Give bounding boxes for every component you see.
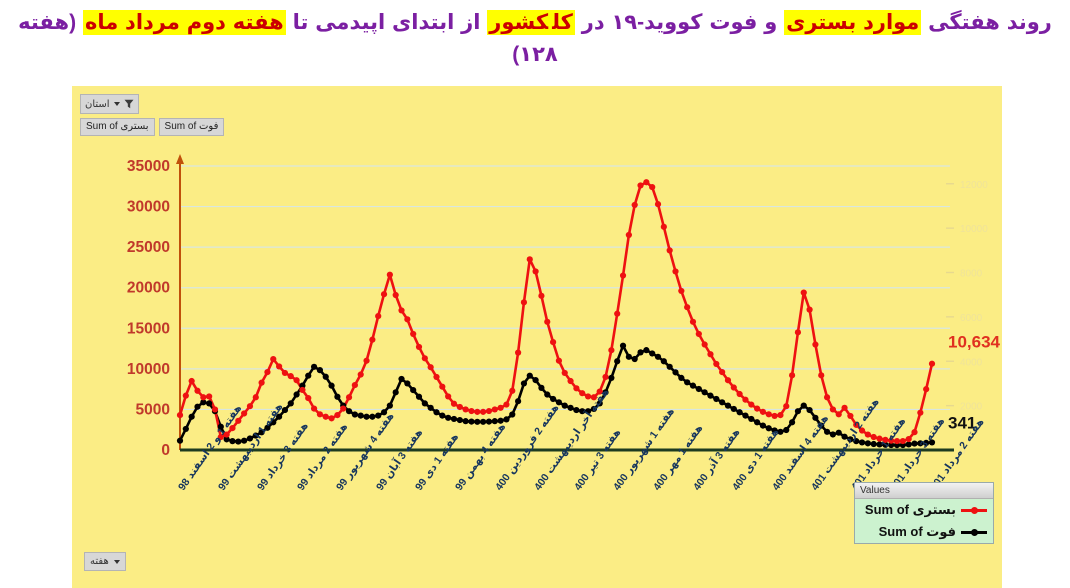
data-point-deaths — [824, 429, 830, 435]
data-point-deaths — [754, 419, 760, 425]
data-point-hospitalized — [498, 405, 504, 411]
data-point-deaths — [305, 373, 311, 379]
data-point-hospitalized — [923, 386, 929, 392]
data-point-hospitalized — [748, 401, 754, 407]
data-point-deaths — [748, 416, 754, 422]
data-point-hospitalized — [264, 369, 270, 375]
data-point-hospitalized — [614, 311, 620, 317]
data-point-deaths — [707, 393, 713, 399]
title-segment-1: روند هفتگی — [921, 11, 1052, 34]
data-point-deaths — [562, 403, 568, 409]
data-point-hospitalized — [474, 409, 480, 415]
data-point-hospitalized — [527, 256, 533, 262]
data-point-hospitalized — [567, 378, 573, 384]
data-point-deaths — [865, 440, 871, 446]
data-point-deaths — [567, 405, 573, 411]
data-point-hospitalized — [276, 363, 282, 369]
data-point-hospitalized — [544, 319, 550, 325]
data-point-hospitalized — [649, 184, 655, 190]
data-point-deaths — [206, 400, 212, 406]
data-point-hospitalized — [678, 288, 684, 294]
data-point-deaths — [696, 386, 702, 392]
data-point-deaths — [655, 354, 661, 360]
legend-label-hospitalized: Sum of بستری — [865, 502, 956, 518]
data-point-deaths — [235, 438, 241, 444]
y-axis-left-tick: 10000 — [127, 361, 170, 378]
data-point-deaths — [731, 406, 737, 412]
data-point-hospitalized — [486, 408, 492, 414]
data-point-deaths — [573, 407, 579, 413]
chart-legend: Values Sum of بستری Sum of فوت — [854, 482, 994, 544]
data-point-hospitalized — [393, 292, 399, 298]
data-point-hospitalized — [841, 405, 847, 411]
data-point-deaths — [527, 373, 533, 379]
data-point-hospitalized — [200, 394, 206, 400]
title-segment-6: از ابتدای اپیدمی تا — [286, 11, 488, 34]
data-point-deaths — [346, 408, 352, 414]
data-point-hospitalized — [632, 202, 638, 208]
data-point-hospitalized — [404, 316, 410, 322]
data-point-deaths — [177, 438, 183, 444]
data-point-hospitalized — [777, 412, 783, 418]
data-point-hospitalized — [515, 350, 521, 356]
data-point-hospitalized — [463, 406, 469, 412]
data-point-deaths — [632, 356, 638, 362]
data-point-hospitalized — [194, 388, 200, 394]
data-point-hospitalized — [690, 319, 696, 325]
data-point-hospitalized — [865, 431, 871, 437]
data-point-hospitalized — [282, 370, 288, 376]
data-point-hospitalized — [305, 395, 311, 401]
data-point-deaths — [783, 427, 789, 433]
y-axis-right-tick: 10000 — [960, 224, 988, 235]
y-axis-left-tick: 30000 — [127, 199, 170, 216]
data-point-hospitalized — [428, 364, 434, 370]
data-point-hospitalized — [189, 378, 195, 384]
y-axis-left-tick: 0 — [161, 442, 170, 459]
data-point-hospitalized — [573, 385, 579, 391]
week-slicer-label: هفته — [90, 556, 109, 567]
data-point-hospitalized — [480, 409, 486, 415]
legend-label-deaths: Sum of فوت — [879, 524, 956, 540]
data-point-hospitalized — [340, 406, 346, 412]
data-point-deaths — [468, 419, 474, 425]
data-point-hospitalized — [317, 411, 323, 417]
data-point-deaths — [428, 405, 434, 411]
data-point-hospitalized — [900, 438, 906, 444]
data-point-hospitalized — [381, 291, 387, 297]
data-point-deaths — [323, 374, 329, 380]
y-axis-left-tick: 5000 — [136, 401, 170, 418]
data-point-deaths — [649, 350, 655, 356]
data-point-hospitalized — [929, 361, 935, 367]
data-point-hospitalized — [288, 373, 294, 379]
legend-swatch-black — [961, 526, 987, 538]
data-point-hospitalized — [643, 179, 649, 185]
data-point-deaths — [836, 430, 842, 436]
data-point-deaths — [859, 439, 865, 445]
data-point-hospitalized — [369, 337, 375, 343]
data-point-deaths — [906, 441, 912, 447]
data-point-hospitalized — [422, 355, 428, 361]
data-point-hospitalized — [655, 201, 661, 207]
data-point-hospitalized — [206, 393, 212, 399]
data-point-hospitalized — [719, 369, 725, 375]
legend-header: Values — [855, 483, 993, 499]
data-point-deaths — [702, 389, 708, 395]
week-slicer-button[interactable]: هفته — [84, 552, 126, 571]
data-point-hospitalized — [433, 374, 439, 380]
screenshot-root: روند هفتگی موارد بستری و فوت کووید-۱۹ در… — [0, 0, 1070, 588]
title-highlight-country: کشور — [487, 10, 550, 35]
data-point-hospitalized — [626, 232, 632, 238]
data-point-deaths — [328, 383, 334, 389]
data-point-hospitalized — [445, 393, 451, 399]
data-point-hospitalized — [183, 393, 189, 399]
data-point-deaths — [410, 387, 416, 393]
y-axis-left-tick: 25000 — [127, 239, 170, 256]
y-axis-left-tick: 35000 — [127, 158, 170, 175]
data-point-deaths — [189, 414, 195, 420]
data-point-deaths — [509, 411, 515, 417]
measure-chip-hospitalized[interactable]: Sum of بستری — [80, 118, 155, 136]
data-point-hospitalized — [818, 372, 824, 378]
data-point-deaths — [416, 394, 422, 400]
data-point-hospitalized — [871, 434, 877, 440]
data-point-hospitalized — [253, 394, 259, 400]
data-point-hospitalized — [509, 388, 515, 394]
data-point-hospitalized — [247, 403, 253, 409]
data-point-deaths — [398, 376, 404, 382]
data-point-deaths — [404, 380, 410, 386]
funnel-icon — [124, 99, 134, 109]
data-point-hospitalized — [398, 307, 404, 313]
data-point-hospitalized — [672, 268, 678, 274]
y-axis-left-tick: 15000 — [127, 320, 170, 337]
data-point-deaths — [457, 417, 463, 423]
data-point-hospitalized — [906, 436, 912, 442]
data-point-hospitalized — [760, 409, 766, 415]
data-point-hospitalized — [177, 412, 183, 418]
data-point-hospitalized — [812, 341, 818, 347]
data-point-deaths — [684, 379, 690, 385]
data-point-hospitalized — [375, 313, 381, 319]
data-point-deaths — [486, 419, 492, 425]
data-point-hospitalized — [270, 356, 276, 362]
data-point-hospitalized — [713, 361, 719, 367]
chevron-down-icon — [114, 102, 120, 106]
data-point-hospitalized — [468, 408, 474, 414]
data-point-deaths — [474, 419, 480, 425]
page-title: روند هفتگی موارد بستری و فوت کووید-۱۹ در… — [0, 8, 1070, 70]
data-point-deaths — [451, 416, 457, 422]
data-point-deaths — [719, 399, 725, 405]
data-point-hospitalized — [772, 413, 778, 419]
legend-swatch-red — [961, 504, 987, 516]
data-point-hospitalized — [550, 339, 556, 345]
data-point-deaths — [667, 364, 673, 370]
data-point-hospitalized — [299, 387, 305, 393]
title-highlight-hospitalizations: موارد بستری — [784, 10, 921, 35]
legend-item-hospitalized[interactable]: Sum of بستری — [855, 499, 993, 521]
chevron-down-icon — [114, 560, 120, 564]
data-point-deaths — [369, 414, 375, 420]
data-point-deaths — [352, 411, 358, 417]
title-highlight-all: کل — [550, 10, 575, 35]
data-point-deaths — [363, 414, 369, 420]
data-point-deaths — [742, 413, 748, 419]
data-point-deaths — [521, 380, 527, 386]
data-point-hospitalized — [556, 358, 562, 364]
data-point-hospitalized — [387, 272, 393, 278]
chart-panel: استان Sum of بستری Sum of فوت 0500010000… — [72, 86, 1002, 588]
y-axis-right-tick: 4000 — [960, 357, 983, 368]
data-point-deaths — [445, 415, 451, 421]
legend-item-deaths[interactable]: Sum of فوت — [855, 521, 993, 543]
data-point-hospitalized — [451, 401, 457, 407]
data-point-deaths — [311, 364, 317, 370]
data-point-deaths — [737, 409, 743, 415]
province-slicer-button[interactable]: استان — [80, 94, 139, 114]
data-point-deaths — [713, 396, 719, 402]
data-point-hospitalized — [620, 272, 626, 278]
data-point-hospitalized — [684, 304, 690, 310]
data-point-deaths — [288, 400, 294, 406]
data-point-hospitalized — [806, 307, 812, 313]
data-point-hospitalized — [457, 404, 463, 410]
data-point-hospitalized — [439, 384, 445, 390]
y-axis-right-tick: 2000 — [960, 402, 983, 413]
data-point-hospitalized — [328, 415, 334, 421]
data-point-hospitalized — [293, 377, 299, 383]
data-point-hospitalized — [917, 410, 923, 416]
y-axis-left-tick: 20000 — [127, 280, 170, 297]
data-point-hospitalized — [766, 411, 772, 417]
data-point-hospitalized — [667, 247, 673, 253]
data-point-hospitalized — [352, 382, 358, 388]
data-point-deaths — [795, 408, 801, 414]
data-point-hospitalized — [783, 403, 789, 409]
data-point-hospitalized — [801, 289, 807, 295]
data-point-deaths — [544, 391, 550, 397]
measure-chip-group: Sum of بستری Sum of فوت — [80, 118, 224, 136]
data-point-hospitalized — [323, 414, 329, 420]
data-point-hospitalized — [795, 329, 801, 335]
data-point-deaths — [637, 349, 643, 355]
data-point-deaths — [439, 413, 445, 419]
data-point-hospitalized — [532, 268, 538, 274]
data-point-deaths — [801, 403, 807, 409]
data-point-deaths — [725, 403, 731, 409]
data-point-hospitalized — [259, 380, 265, 386]
data-point-deaths — [789, 419, 795, 425]
data-point-deaths — [433, 409, 439, 415]
data-point-deaths — [556, 399, 562, 405]
data-point-hospitalized — [725, 377, 731, 383]
data-point-hospitalized — [363, 358, 369, 364]
data-point-deaths — [661, 358, 667, 364]
data-point-hospitalized — [585, 393, 591, 399]
data-point-hospitalized — [602, 374, 608, 380]
data-point-hospitalized — [492, 406, 498, 412]
data-point-deaths — [463, 418, 469, 424]
data-point-hospitalized — [661, 224, 667, 230]
data-point-deaths — [503, 416, 509, 422]
data-point-hospitalized — [731, 384, 737, 390]
data-point-hospitalized — [334, 412, 340, 418]
title-segment-3: و فوت کووید-۱۹ در — [575, 11, 784, 34]
data-point-hospitalized — [911, 429, 917, 435]
data-point-hospitalized — [212, 406, 218, 412]
data-point-deaths — [538, 385, 544, 391]
y-axis-right-tick: 6000 — [960, 313, 983, 324]
data-point-deaths — [626, 354, 632, 360]
data-point-hospitalized — [637, 182, 643, 188]
data-point-deaths — [293, 391, 299, 397]
data-point-hospitalized — [707, 351, 713, 357]
y-axis-right-tick: 12000 — [960, 180, 988, 191]
data-point-hospitalized — [830, 406, 836, 412]
data-point-hospitalized — [847, 413, 853, 419]
province-slicer-label: استان — [85, 99, 110, 110]
title-highlight-week: هفته دوم مرداد ماه — [83, 10, 286, 35]
data-point-deaths — [690, 383, 696, 389]
data-point-deaths — [678, 375, 684, 381]
y-axis-right-tick: 8000 — [960, 269, 983, 280]
data-point-hospitalized — [754, 406, 760, 412]
data-point-hospitalized — [742, 397, 748, 403]
data-point-deaths — [480, 419, 486, 425]
data-point-hospitalized — [836, 411, 842, 417]
data-point-hospitalized — [789, 372, 795, 378]
data-point-deaths — [194, 404, 200, 410]
data-point-deaths — [672, 369, 678, 375]
data-point-deaths — [620, 343, 626, 349]
data-point-deaths — [229, 438, 235, 444]
data-point-hospitalized — [311, 406, 317, 412]
data-point-deaths — [387, 403, 393, 409]
data-point-hospitalized — [562, 370, 568, 376]
data-point-hospitalized — [521, 299, 527, 305]
data-point-hospitalized — [358, 371, 364, 377]
data-point-hospitalized — [503, 401, 509, 407]
data-point-hospitalized — [416, 344, 422, 350]
data-point-deaths — [515, 398, 521, 404]
data-point-deaths — [334, 394, 340, 400]
data-point-hospitalized — [608, 347, 614, 353]
data-point-deaths — [358, 413, 364, 419]
data-point-deaths — [393, 389, 399, 395]
data-point-deaths — [760, 422, 766, 428]
data-point-hospitalized — [346, 394, 352, 400]
data-point-deaths — [643, 347, 649, 353]
data-point-deaths — [422, 400, 428, 406]
data-point-deaths — [830, 431, 836, 437]
data-point-hospitalized — [579, 390, 585, 396]
data-point-deaths — [183, 426, 189, 432]
data-point-hospitalized — [702, 341, 708, 347]
data-point-deaths — [614, 358, 620, 364]
data-point-deaths — [608, 375, 614, 381]
data-point-hospitalized — [824, 394, 830, 400]
data-point-hospitalized — [538, 293, 544, 299]
data-point-deaths — [532, 377, 538, 383]
data-point-deaths — [317, 367, 323, 373]
data-point-hospitalized — [696, 331, 702, 337]
measure-chip-deaths[interactable]: Sum of فوت — [159, 118, 225, 136]
data-label-hospitalized: 10,634 — [948, 333, 1001, 352]
data-point-deaths — [806, 407, 812, 413]
data-point-hospitalized — [410, 331, 416, 337]
data-point-hospitalized — [737, 391, 743, 397]
